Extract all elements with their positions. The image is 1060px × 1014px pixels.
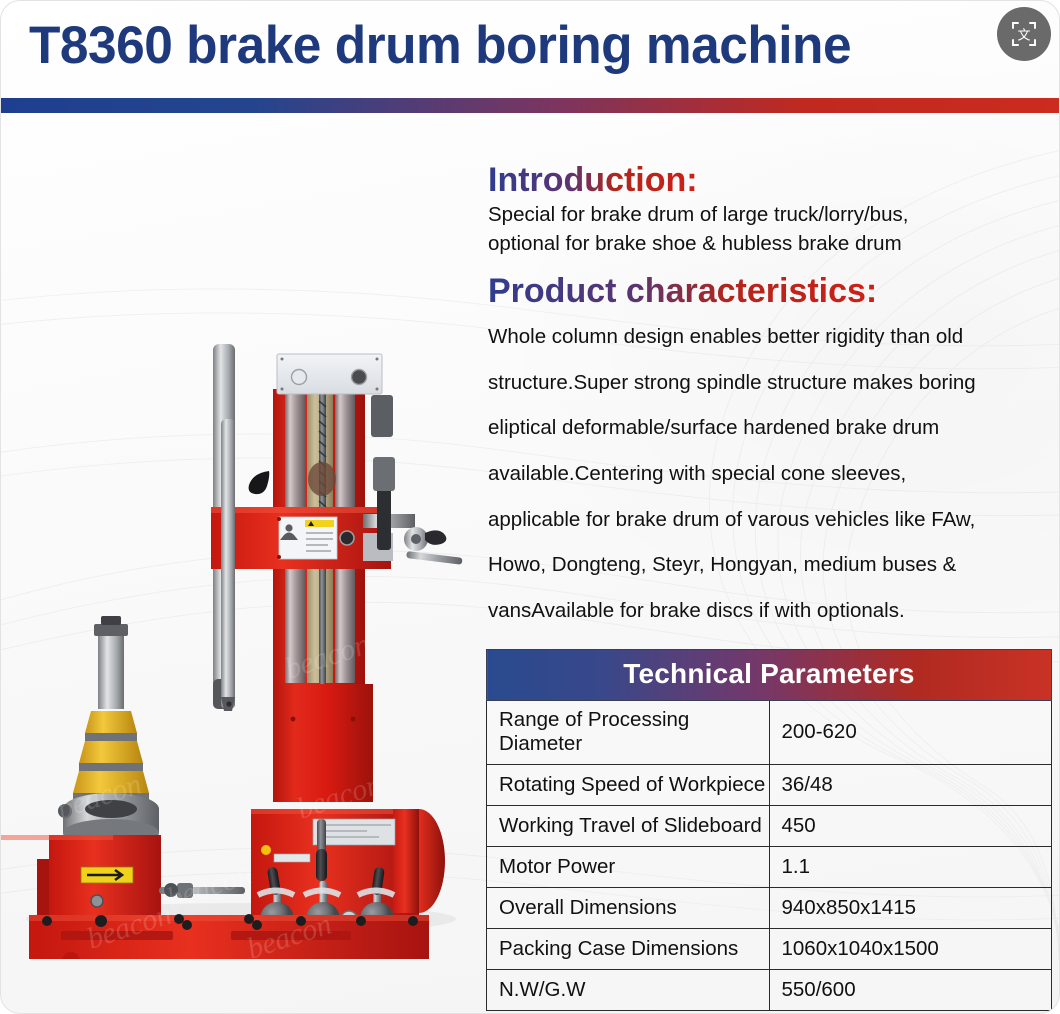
characteristics-heading: Product characteristics:	[488, 272, 877, 310]
table-row: Packing Case Dimensions 1060x1040x1500	[487, 929, 1052, 970]
table-row: N.W/G.W 550/600	[487, 970, 1052, 1011]
table-title: Technical Parameters	[487, 650, 1052, 701]
characteristics-line-4: available.Centering with special cone sl…	[488, 453, 1048, 495]
feed-handle-bar	[406, 551, 462, 565]
spec-value: 1060x1040x1500	[769, 929, 1052, 970]
clamp-lever	[249, 471, 270, 494]
product-spec-page: T8360 brake drum boring machine 文	[0, 0, 1060, 1014]
table-row: Motor Power 1.1	[487, 847, 1052, 888]
table-row: Range of Processing Diameter 200-620	[487, 701, 1052, 765]
spec-value: 1.1	[769, 847, 1052, 888]
characteristics-line-3: eliptical deformable/surface hardened br…	[488, 407, 1048, 449]
translate-glyph: 文	[1017, 29, 1030, 44]
spec-label: Motor Power	[487, 847, 770, 888]
table-row: Working Travel of Slideboard 450	[487, 806, 1052, 847]
spec-label: Rotating Speed of Workpiece	[487, 765, 770, 806]
spec-label: Overall Dimensions	[487, 888, 770, 929]
control-panel	[277, 354, 382, 394]
brake-drum-boring-machine-photo: beacon beacon beacon beacon beacon beaco…	[1, 119, 471, 959]
spec-label: N.W/G.W	[487, 970, 770, 1011]
characteristics-line-1: Whole column design enables better rigid…	[488, 316, 1048, 358]
tool-post-arm	[377, 484, 391, 550]
table-row: Overall Dimensions 940x850x1415	[487, 888, 1052, 929]
lock-knob	[340, 531, 354, 545]
boring-bar	[221, 419, 235, 711]
spec-value: 450	[769, 806, 1052, 847]
spec-value: 36/48	[769, 765, 1052, 806]
page-header: T8360 brake drum boring machine 文	[1, 1, 1059, 93]
stop-button	[352, 370, 367, 385]
product-description: Introduction: Special for brake drum of …	[488, 161, 1048, 632]
page-title: T8360 brake drum boring machine	[29, 15, 851, 76]
indicator-lamp	[261, 845, 271, 855]
table-row: Rotating Speed of Workpiece 36/48	[487, 765, 1052, 806]
table-fitting	[91, 895, 103, 907]
header-gradient-bar	[1, 98, 1059, 113]
spec-value: 940x850x1415	[769, 888, 1052, 929]
characteristics-line-6: Howo, Dongteng, Steyr, Hongyan, medium b…	[488, 544, 1048, 586]
table-header-row: Technical Parameters	[487, 650, 1052, 701]
introduction-heading: Introduction:	[488, 161, 698, 199]
characteristics-line-7: vansAvailable for brake discs if with op…	[488, 590, 1048, 632]
characteristics-line-5: applicable for brake drum of varous vehi…	[488, 499, 1048, 541]
tool-block	[371, 395, 393, 437]
spec-label: Packing Case Dimensions	[487, 929, 770, 970]
spindle-nut	[94, 624, 128, 636]
spec-value: 550/600	[769, 970, 1052, 1011]
introduction-line-2: optional for brake shoe & hubless brake …	[488, 230, 1048, 257]
scan-frame-icon: 文	[1009, 19, 1039, 49]
table-body: Range of Processing Diameter 200-620 Rot…	[487, 701, 1052, 1011]
spindle-shaft	[98, 631, 124, 709]
characteristics-line-2: structure.Super strong spindle structure…	[488, 362, 1048, 404]
translate-scan-icon[interactable]: 文	[997, 7, 1051, 61]
feed-handle-assembly	[363, 457, 463, 565]
spec-label: Range of Processing Diameter	[487, 701, 770, 765]
technical-parameters-table: Technical Parameters Range of Processing…	[486, 649, 1052, 1011]
start-button	[292, 370, 307, 385]
introduction-line-1: Special for brake drum of large truck/lo…	[488, 201, 1048, 228]
spec-value: 200-620	[769, 701, 1052, 765]
spec-label: Working Travel of Slideboard	[487, 806, 770, 847]
